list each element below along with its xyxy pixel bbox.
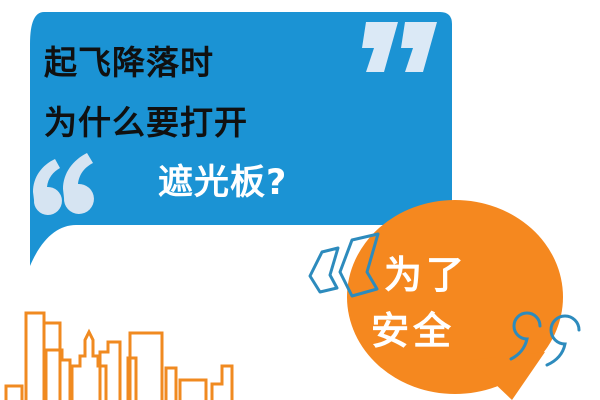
answer-close-quote-icon (0, 0, 600, 400)
poster-canvas: 起飞降落时 为什么要打开 遮光板? 为了 安全 (0, 0, 600, 400)
